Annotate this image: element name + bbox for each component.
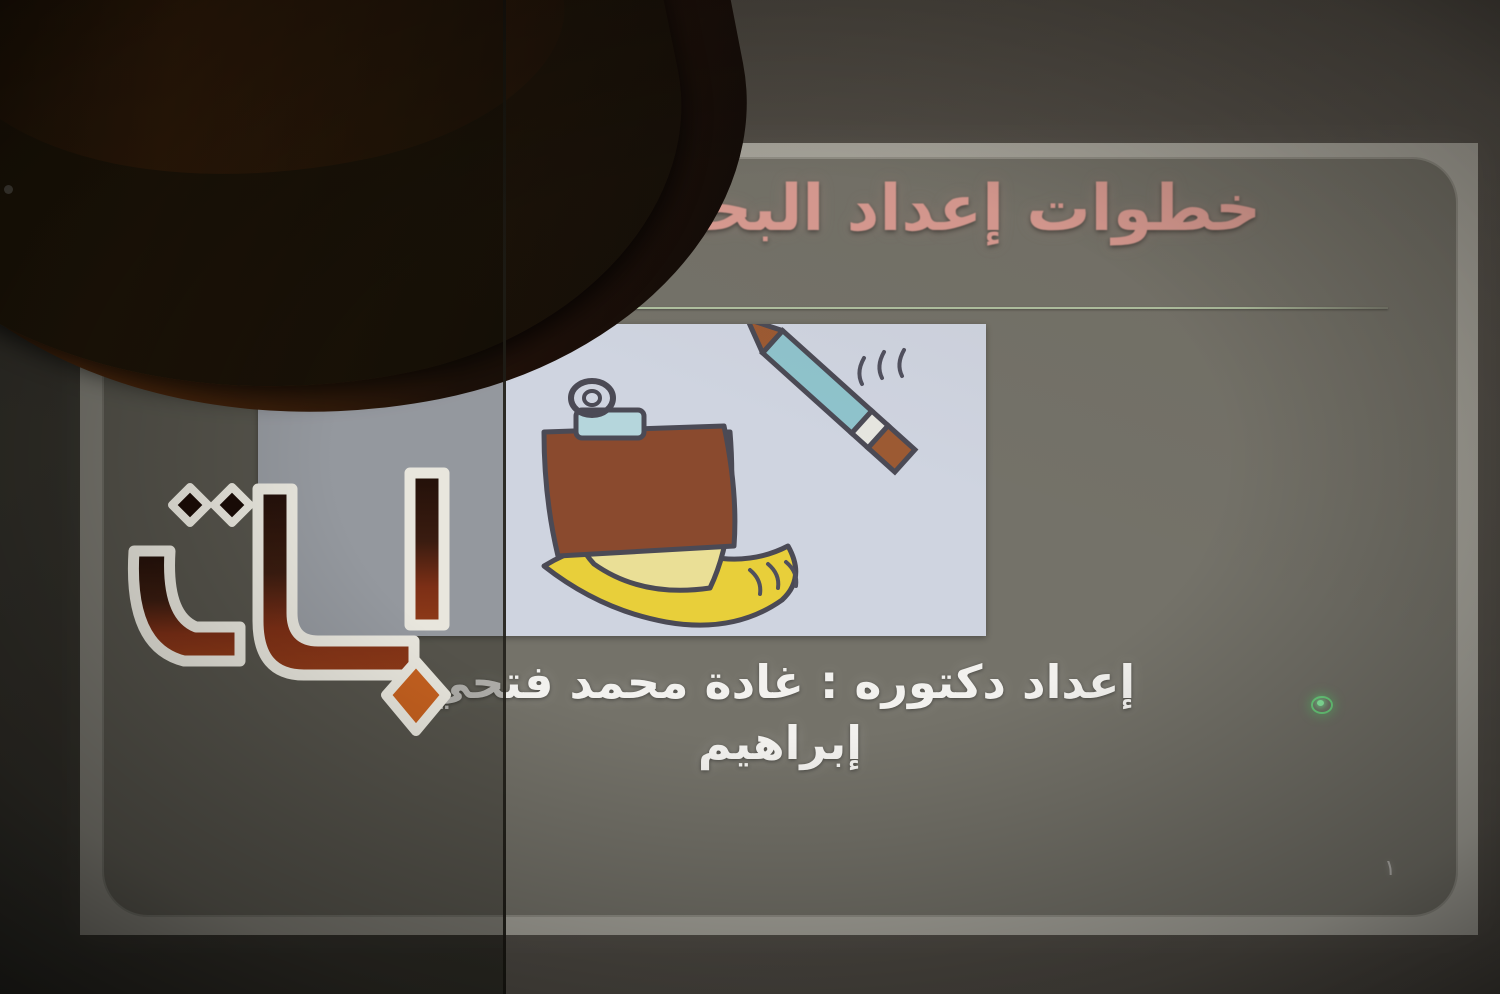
green-laser-dot <box>1311 696 1333 714</box>
byline-line-1: إعداد دكتوره : غادة محمد فتحي <box>212 652 1348 713</box>
slide-number: ١ <box>1384 856 1396 881</box>
slide-byline: إعداد دكتوره : غادة محمد فتحي إبراهيم <box>102 652 1458 773</box>
byline-line-2: إبراهيم <box>212 713 1348 774</box>
wall-fixture-knob <box>4 185 13 194</box>
screenshot-root: خطوات إعداد البحث الاجتماعي <box>0 0 1500 994</box>
wall-corner-seam <box>503 0 506 994</box>
